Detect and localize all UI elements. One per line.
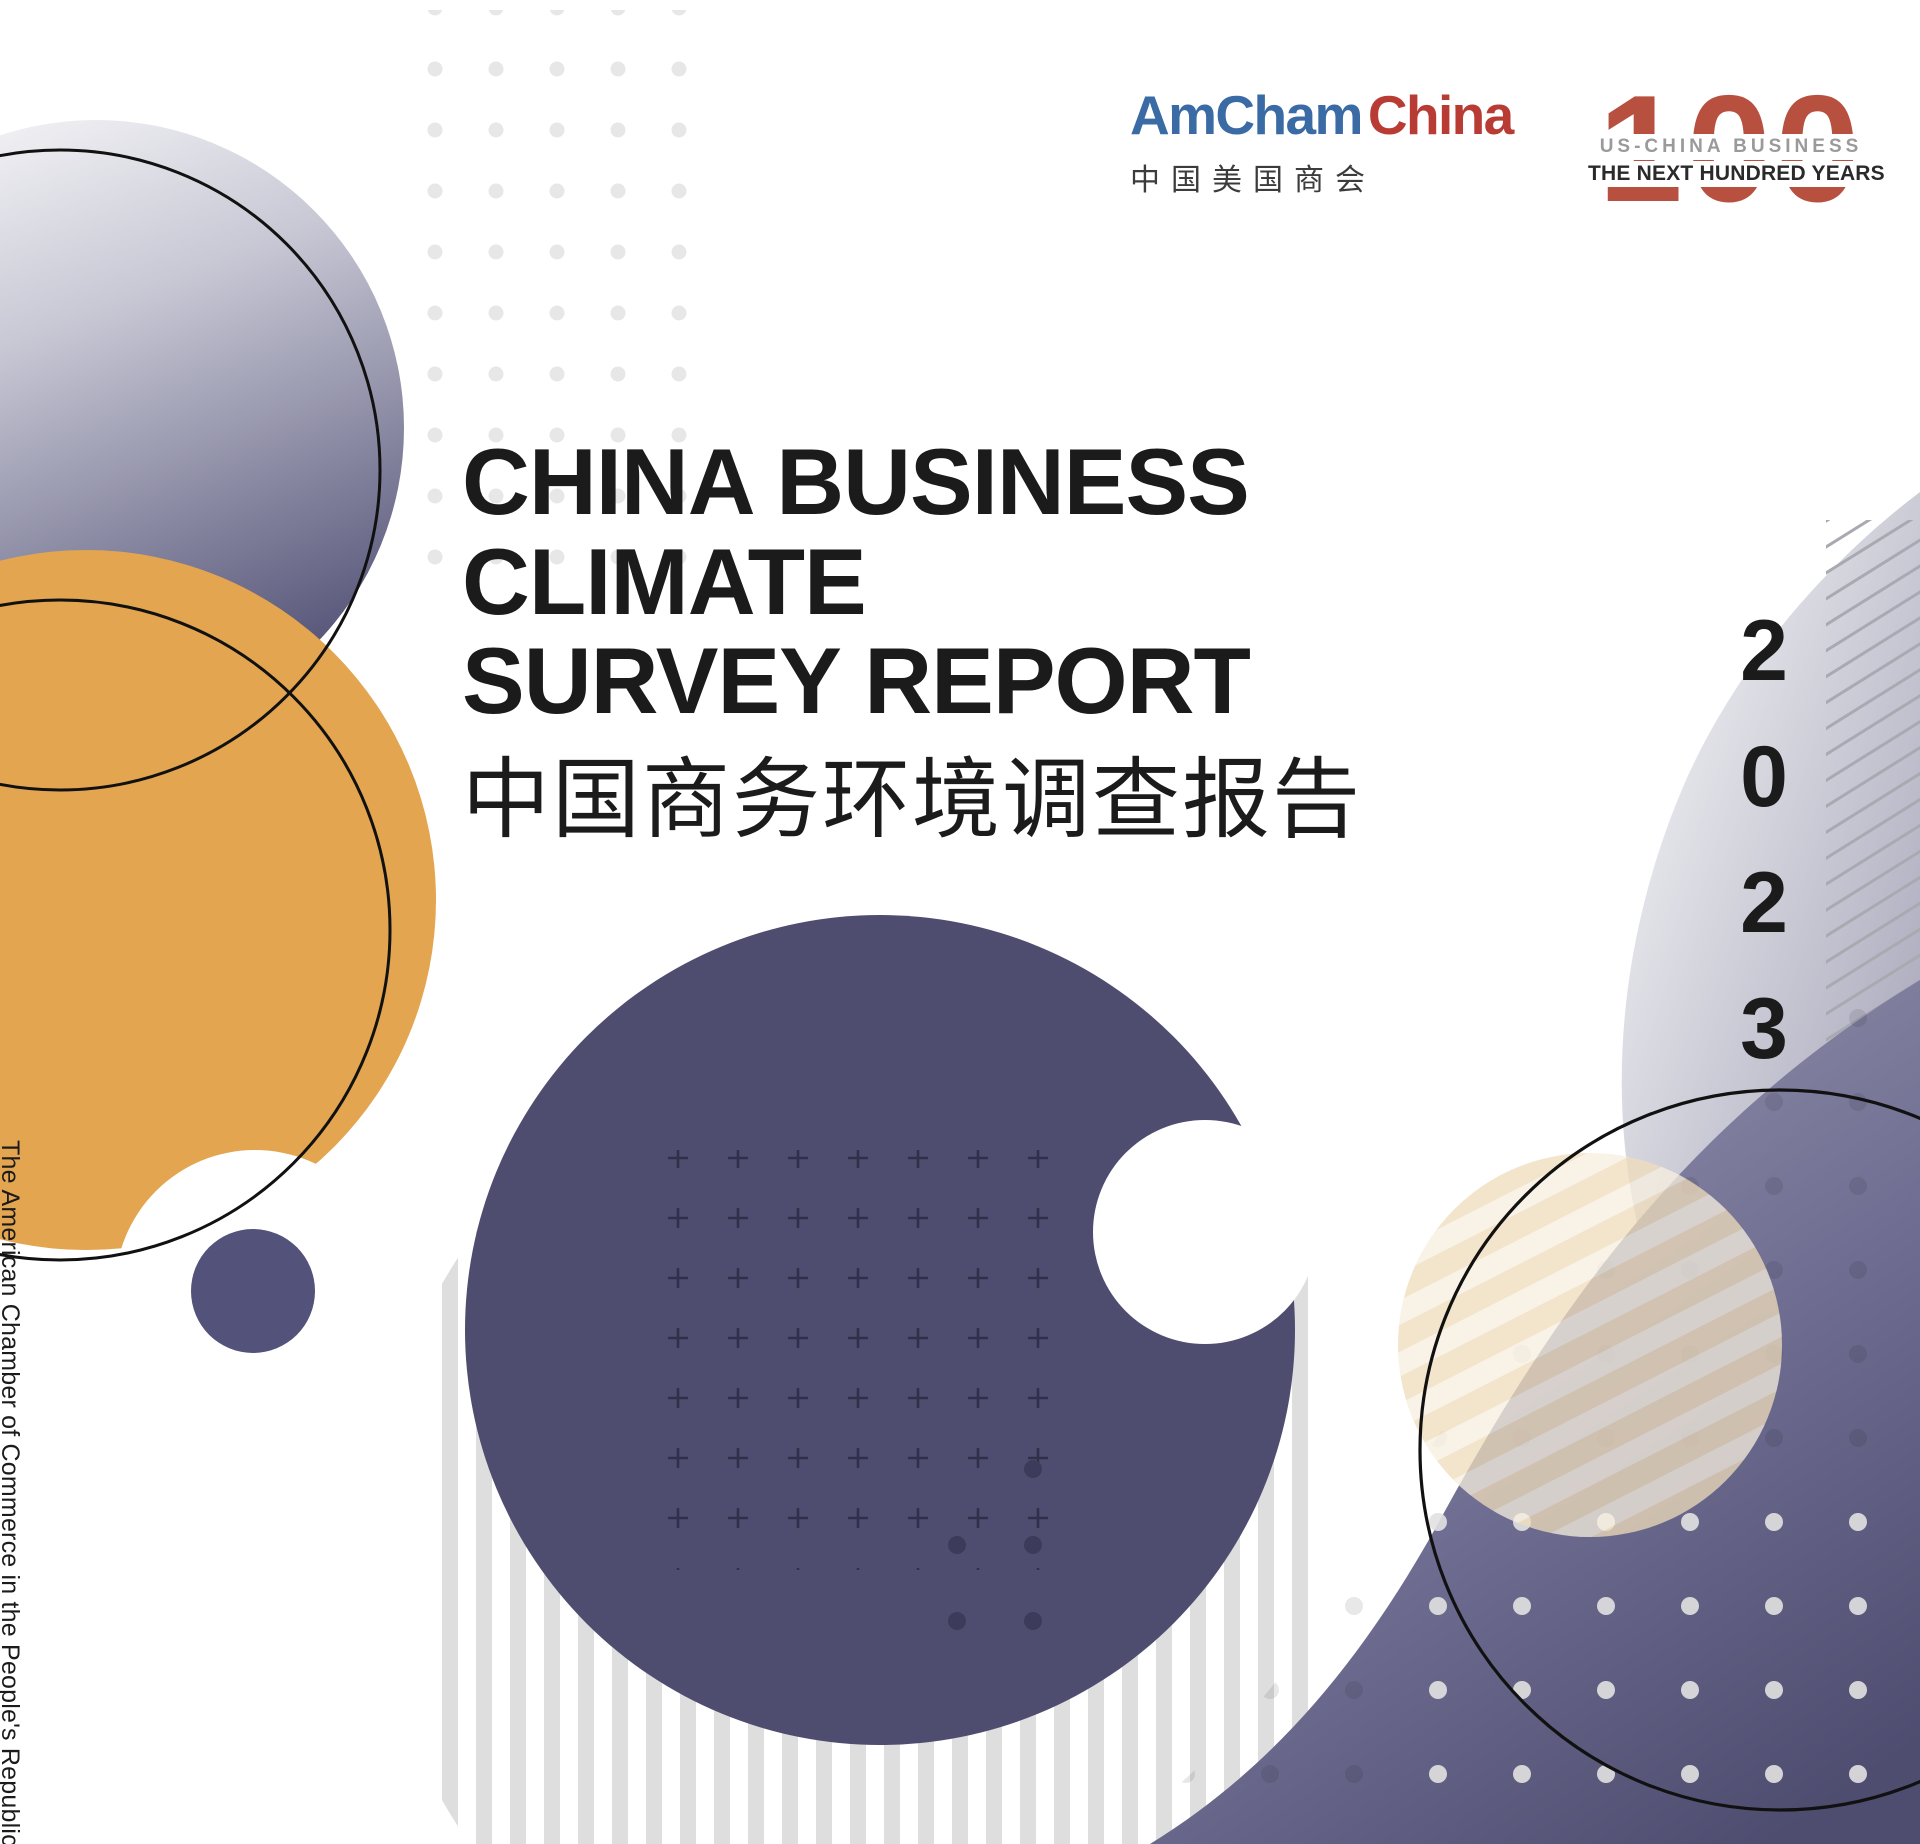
year-stack: 2 0 2 3 [1714,588,1814,1092]
year-digit-3: 2 [1714,840,1814,966]
year-digit-2: 0 [1714,714,1814,840]
small-purple-dot [191,1229,315,1353]
logo-text-chinese: 中国美国商会 [1130,155,1550,199]
title-line-1: CHINA BUSINESS CLIMATE [462,432,1642,631]
title-line-2: SURVEY REPORT [462,631,1642,731]
amcham-wordmark: AmChamChina [1130,88,1550,143]
plus-pattern [640,1150,1060,1570]
diagonal-hatch-band [1826,520,1920,1060]
amcham-china-logo: AmChamChina 中国美国商会 [1130,88,1550,199]
title-chinese: 中国商务环境调查报告 [462,751,1642,850]
circle-notch [1093,1120,1317,1344]
year-digit-1: 2 [1714,588,1814,714]
centennial-100-logo: 100 US-CHINA BUSINESS THE NEXT HUNDRED Y… [1586,74,1876,224]
report-cover: AmChamChina 中国美国商会 100 US-CHINA BUSINESS… [0,0,1920,1844]
logo-text-amcham: AmCham [1130,84,1362,146]
cover-title-block: CHINA BUSINESS CLIMATE SURVEY REPORT 中国商… [462,432,1642,849]
organization-caption: The American Chamber of Commerce in the … [0,1140,24,1844]
logo-text-china: China [1368,84,1513,146]
year-digit-4: 3 [1714,966,1814,1092]
centennial-strapline: US-CHINA BUSINESS THE NEXT HUNDRED YEARS [1586,134,1876,187]
centennial-line2: THE NEXT HUNDRED YEARS [1586,161,1876,187]
cover-artwork [0,0,1920,1844]
centennial-line1: US-CHINA BUSINESS [1596,134,1867,160]
